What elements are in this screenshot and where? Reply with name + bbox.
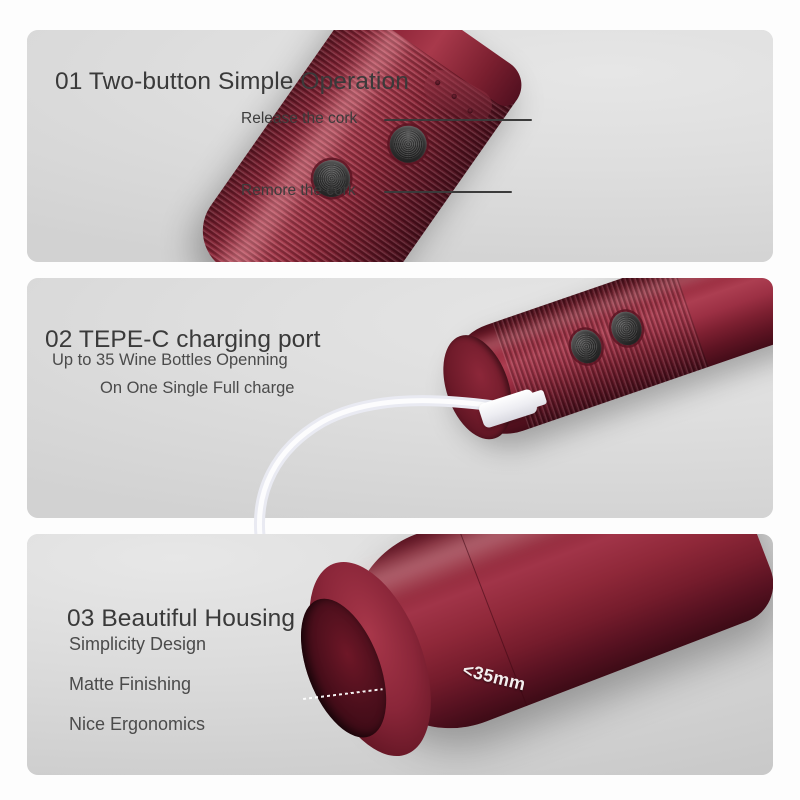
product-infographic: 01 Two-button Simple Operation Release t…	[0, 0, 800, 800]
feature-panel-02: 02 TEPE-C charging port Up to 35 Wine Bo…	[27, 278, 773, 518]
feature-panel-01: 01 Two-button Simple Operation Release t…	[27, 30, 773, 262]
panel-02-subline-2: On One Single Full charge	[100, 379, 294, 398]
panel-02-subline-1: Up to 35 Wine Bottles Openning	[52, 351, 288, 370]
panel-03-subline-3: Nice Ergonomics	[69, 714, 205, 735]
led-dot	[434, 79, 441, 86]
led-dot	[467, 107, 474, 114]
panel-01-title: 01 Two-button Simple Operation	[55, 68, 409, 96]
highlight-gloss	[354, 534, 647, 611]
feature-panel-03: 03 Beautiful Housing Simplicity Design M…	[27, 534, 773, 775]
panel-03-subline-1: Simplicity Design	[69, 634, 206, 655]
leader-line-remove	[384, 191, 512, 193]
panel-03-subline-2: Matte Finishing	[69, 674, 191, 695]
callout-label-remove: Remore the cork	[241, 182, 356, 200]
callout-label-release: Release the cork	[241, 110, 357, 128]
led-dot	[451, 93, 458, 100]
diameter-measure-line	[303, 688, 383, 700]
leader-line-release	[384, 119, 532, 121]
panel-03-title: 03 Beautiful Housing	[67, 605, 295, 633]
